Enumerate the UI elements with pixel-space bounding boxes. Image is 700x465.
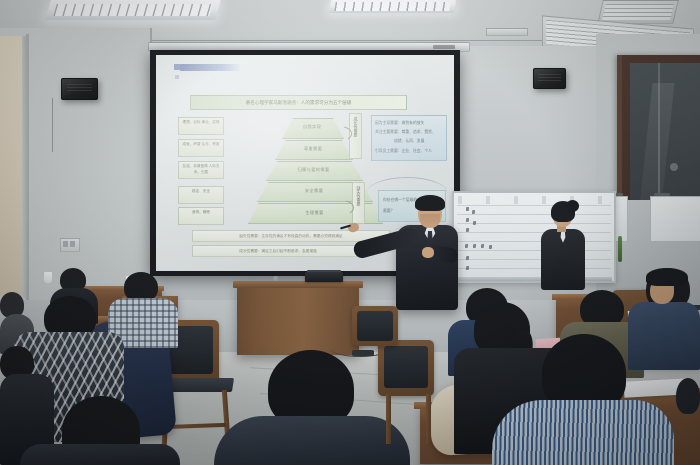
- chair-mid-right-leg: [426, 394, 431, 444]
- whiteboard-rule: [457, 205, 611, 206]
- presenter-glasses: [420, 210, 440, 214]
- light-grate: [53, 4, 213, 17]
- whiteboard-clip: [654, 193, 670, 196]
- marker-stand: [618, 236, 622, 262]
- attendee-body: [20, 444, 180, 465]
- chair-mid-left-pad: [357, 311, 393, 341]
- whiteboard-rule: [457, 268, 611, 269]
- whiteboard-rule: [457, 250, 611, 251]
- whiteboard-rule: [457, 223, 611, 224]
- cup-back-far-left: [44, 272, 52, 283]
- whiteboard-mark: [466, 207, 469, 211]
- speaker-mesh: [67, 84, 92, 93]
- assistant-hair-bun: [566, 200, 579, 212]
- whiteboard-mark: [466, 266, 469, 270]
- microphone-base: [273, 276, 278, 281]
- fluorescent-panel-left: [45, 0, 221, 20]
- whiteboard-mark: [466, 218, 469, 222]
- air-slot-center: [486, 28, 528, 36]
- whiteboard-mark: [481, 244, 484, 248]
- laptop[interactable]: [305, 272, 343, 282]
- wall-outlet-socket: [63, 241, 68, 247]
- roller-brand-plate: [433, 45, 455, 49]
- classroom-photo: 著名心理学家马斯洛观点：人的需求可分为五个层级 自我实现 尊重需要 归属与爱的需…: [0, 0, 700, 465]
- presenter-gesture-hand: [422, 247, 434, 258]
- glass-spot: [670, 163, 678, 171]
- chair-mid-right-pad: [384, 346, 428, 388]
- whiteboard-rule: [457, 259, 611, 260]
- wall-outlet-socket: [70, 241, 75, 247]
- attendee-hair: [646, 268, 688, 286]
- whiteboard-rule: [457, 214, 611, 215]
- chair-mid-right-leg: [386, 394, 391, 444]
- attendee-body: [214, 416, 410, 465]
- small-whiteboard-right: [650, 196, 700, 242]
- whiteboard-mark: [466, 256, 469, 260]
- light-grate: [334, 2, 450, 10]
- whiteboard-mark: [489, 245, 492, 249]
- attendee-body: [628, 302, 700, 370]
- whiteboard-mark: [466, 228, 469, 232]
- attendee-head: [676, 378, 700, 414]
- whiteboard-mark: [472, 210, 475, 214]
- fluorescent-panel-center: [329, 0, 456, 13]
- left-window-frame: [22, 36, 27, 298]
- whiteboard-marker-tray: [452, 277, 612, 281]
- presenter-face-shadow: [420, 214, 440, 227]
- wall-speaker-left: [61, 78, 98, 100]
- whiteboard-mark: [473, 221, 476, 225]
- attendee-body: [492, 400, 674, 465]
- presenter-hair: [415, 195, 445, 211]
- whiteboard-rule: [457, 232, 611, 233]
- whiteboard-header-row: [458, 196, 610, 204]
- whiteboard: [452, 191, 616, 283]
- wall-speaker-right: [533, 68, 566, 89]
- whiteboard-mark: [473, 244, 476, 248]
- left-window-blind: [0, 36, 24, 296]
- cable-block: [352, 350, 374, 356]
- speaker-cable-left: [52, 98, 53, 152]
- whiteboard-rule: [457, 241, 611, 242]
- lectern-top: [233, 281, 363, 288]
- vent-slats: [602, 4, 674, 20]
- whiteboard-mark: [465, 244, 468, 248]
- speaker-mesh: [538, 74, 560, 82]
